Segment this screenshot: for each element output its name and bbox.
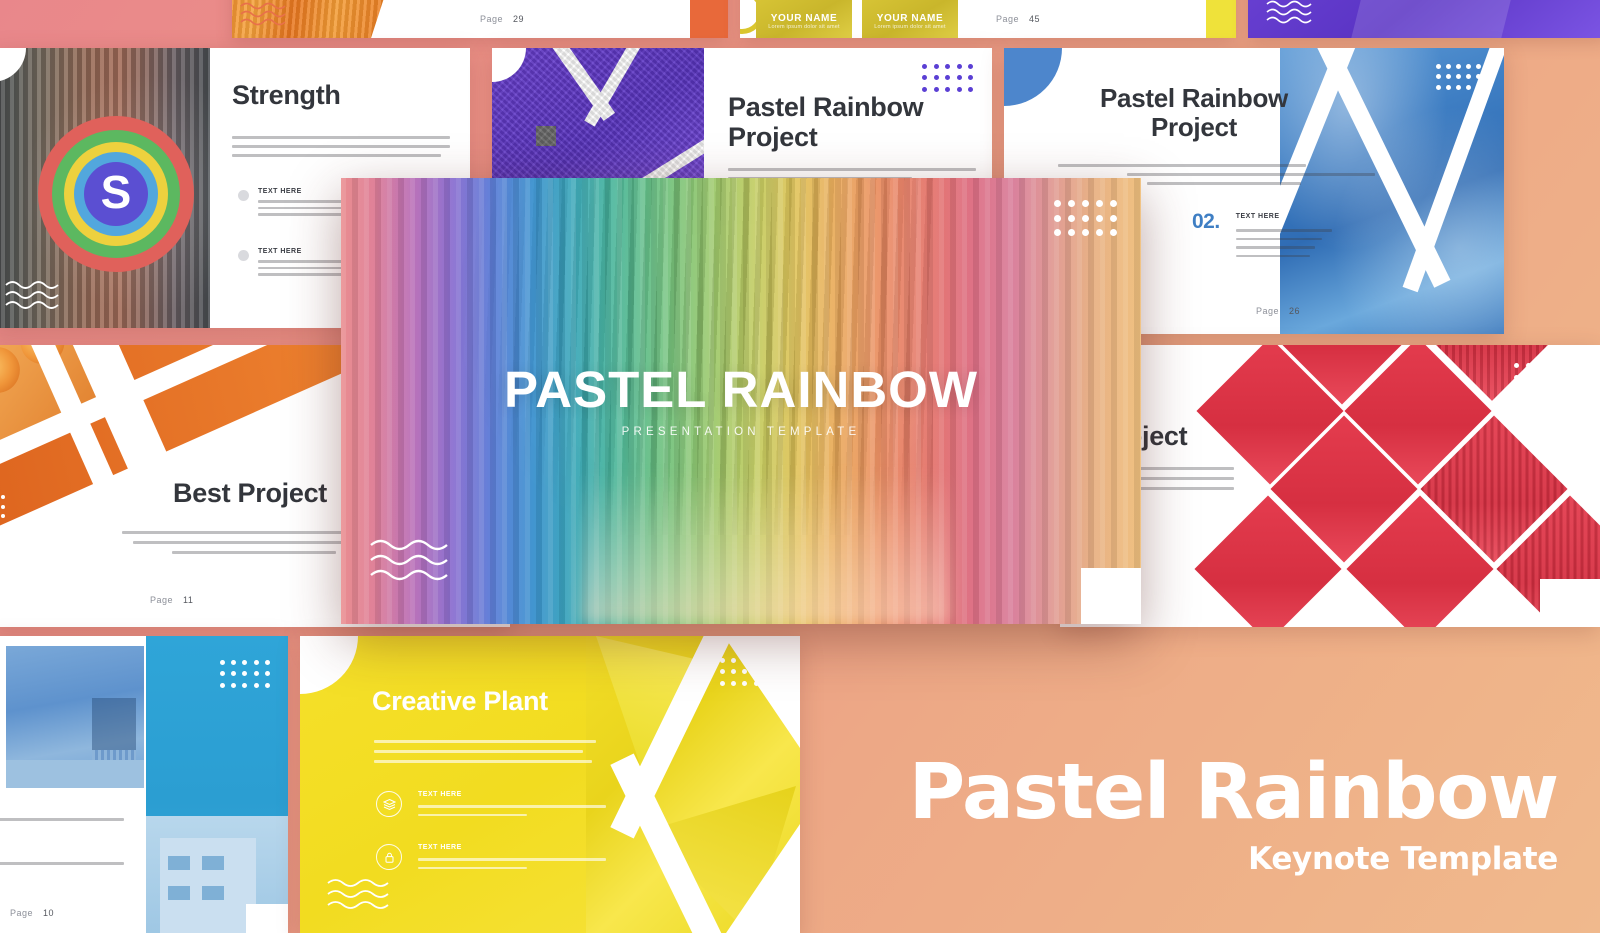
slide-title: Pastel Rainbow Project [1094, 84, 1294, 142]
feature-heading: TEXT HERE [418, 791, 606, 798]
brand-block: Pastel Rainbow Keynote Template [909, 756, 1558, 875]
blue-watercolor-image [1280, 48, 1504, 334]
numbered-item: 02. TEXT HERE [1192, 210, 1356, 257]
presentation-preview-canvas: Page29 YOUR NAME Lorem ipsum dolor sit a… [0, 0, 1600, 933]
accent-bar [1206, 0, 1236, 38]
slide-body-text [0, 862, 124, 865]
brand-subtitle: Keynote Template [909, 844, 1558, 875]
lock-icon [376, 844, 402, 870]
page-indicator: Page45 [996, 14, 1040, 24]
dot-grid-icon [922, 64, 974, 92]
white-corner-block [246, 904, 288, 933]
slide-title: Strength [232, 80, 341, 110]
slide-body-text [374, 740, 596, 763]
bullet-dot-icon [238, 250, 249, 261]
slide-thumbnail-violet[interactable] [1248, 0, 1600, 38]
dot-grid-icon [720, 658, 770, 686]
hero-floor-glow [581, 472, 949, 624]
white-corner-block [1540, 579, 1600, 627]
dot-grid-icon [220, 660, 270, 688]
slide-thumbnail-yellow-cards[interactable]: YOUR NAME Lorem ipsum dolor sit amet YOU… [740, 0, 1236, 38]
page-indicator: Page10 [10, 908, 54, 918]
dot-grid-icon [1436, 64, 1480, 90]
strength-logo-letter: S [84, 162, 148, 226]
blue-panel [146, 636, 288, 933]
slide-title: Pastel Rainbow Project [728, 92, 928, 152]
feature-item: TEXT HERE [376, 844, 606, 870]
dot-grid-icon [0, 495, 6, 519]
wave-lines-icon [1266, 0, 1312, 24]
decor-shape [1351, 0, 1534, 38]
item-number: 02. [1192, 210, 1220, 257]
bullet-dot-icon [238, 190, 249, 201]
slide-red-project[interactable]: : Project [1060, 345, 1600, 627]
accent-bar [690, 0, 728, 38]
page-indicator: Page11 [150, 595, 193, 605]
person-card[interactable]: YOUR NAME Lorem ipsum dolor sit amet [756, 0, 852, 38]
feature-heading: TEXT HERE [418, 844, 606, 851]
building-photo [6, 646, 144, 788]
corner-quarter-circle [1004, 48, 1062, 106]
hero-title: PASTEL RAINBOW [341, 364, 1141, 415]
dot-grid-icon [1054, 200, 1117, 237]
brand-title: Pastel Rainbow [909, 756, 1558, 830]
page-indicator: Page29 [480, 14, 524, 24]
slide-body-text [232, 136, 450, 157]
slide-thumbnail-orange-foil[interactable]: Page29 [232, 0, 728, 38]
slide-title: Creative Plant [372, 686, 548, 716]
strength-logo: S [38, 116, 194, 272]
top-slide-strip: Page29 YOUR NAME Lorem ipsum dolor sit a… [0, 0, 1600, 40]
dot-grid-icon [1514, 363, 1566, 393]
slide-blue-building[interactable]: Page10 [0, 636, 288, 933]
white-corner-block [1081, 568, 1141, 624]
wave-lines-icon [240, 0, 286, 26]
hero-slide-pastel-rainbow[interactable]: PASTEL RAINBOW PRESENTATION TEMPLATE [341, 178, 1141, 624]
wave-lines-icon [326, 876, 390, 910]
hero-subtitle: PRESENTATION TEMPLATE [341, 426, 1141, 438]
layers-icon [376, 791, 402, 817]
person-card[interactable]: YOUR NAME Lorem ipsum dolor sit amet [862, 0, 958, 38]
item-heading: TEXT HERE [1236, 213, 1356, 220]
wave-lines-icon [4, 278, 60, 310]
slide-creative-plant[interactable]: Creative Plant TEXT HERE [300, 636, 800, 933]
feature-item: TEXT HERE [376, 791, 606, 817]
slide-body-text [0, 818, 124, 821]
wave-lines-icon [369, 536, 451, 582]
page-indicator: Page26 [1256, 306, 1300, 316]
dot-grid-icon [400, 66, 452, 94]
square-accent [536, 126, 556, 146]
